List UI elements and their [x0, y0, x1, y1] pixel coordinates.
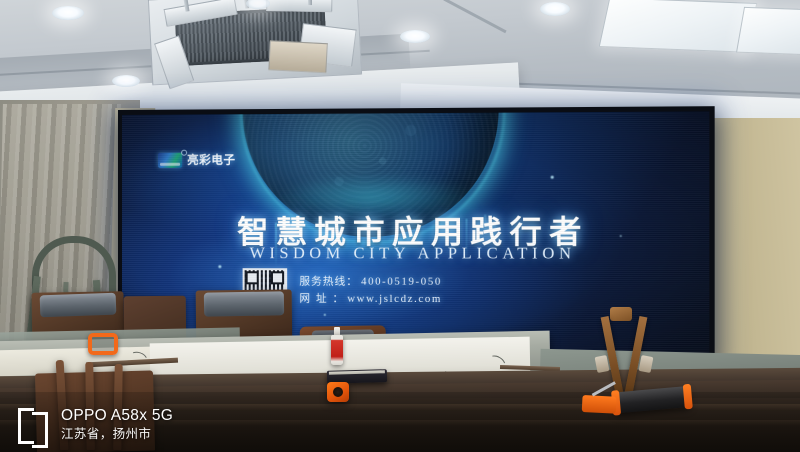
easel-top-clamp [610, 307, 632, 321]
website-value[interactable]: www.jslcdz.com [347, 291, 442, 309]
watermark-device: OPPO A58x 5G [61, 406, 173, 425]
easel-support-block [639, 355, 654, 373]
ceiling-cassette-ac-unit [148, 0, 362, 85]
website-label: 网址： [299, 290, 344, 307]
spark-particle [218, 265, 221, 268]
brand-lockup: 亮彩电子 [158, 151, 235, 167]
ladder-arc [32, 236, 116, 299]
trademark-icon [181, 149, 187, 155]
oppo-logo-right-bracket-icon [32, 412, 48, 448]
ceiling-light-panel [736, 7, 800, 55]
spark-particle [324, 314, 326, 316]
hotline-label: 服务热线： [299, 273, 358, 290]
watermark-location: 江苏省，扬州市 [61, 425, 173, 443]
spark-particle [551, 176, 554, 179]
oppo-camera-logo [18, 408, 48, 442]
hotline-value: 400-0519-050 [361, 273, 442, 290]
brand-name: 亮彩电子 [187, 151, 235, 167]
chair-cushion [204, 291, 284, 316]
tape-measure[interactable] [327, 382, 349, 402]
wooden-easel-stand [592, 312, 656, 388]
hand-tool[interactable] [88, 333, 118, 355]
liangcai-logo-mark [158, 152, 182, 167]
ceiling-downlight [540, 2, 570, 16]
ceiling-light-panel [599, 0, 758, 53]
ceiling-downlight [400, 30, 430, 43]
website-row: 网址： www.jslcdz.com [299, 290, 442, 308]
ac-vane [266, 0, 332, 12]
hotline-row: 服务热线： 400-0519-050 [299, 273, 442, 291]
caulk-ring [683, 384, 693, 410]
bottle-body [331, 335, 343, 365]
ceiling-hanger-rod [443, 0, 506, 33]
watermark-text: OPPO A58x 5G 江苏省，扬州市 [61, 406, 173, 443]
screenshot-root: 亮彩电子 智慧城市应用践行者 WISDOM CITY APPLICATION 服… [0, 0, 800, 452]
ceiling-downlight [112, 75, 140, 87]
caulk-handle [582, 395, 617, 414]
easel-support-block [595, 355, 610, 373]
ceiling-downlight [52, 6, 84, 20]
chair-cushion [40, 293, 117, 318]
ac-vane [268, 40, 327, 73]
screen-subheadline: WISDOM CITY APPLICATION [122, 245, 709, 264]
contact-block: 服务热线： 400-0519-050 网址： www.jslcdz.com [299, 273, 442, 308]
camera-watermark: OPPO A58x 5G 江苏省，扬州市 [18, 406, 173, 443]
ac-pipe [308, 0, 312, 5]
water-bottle[interactable] [331, 327, 343, 365]
